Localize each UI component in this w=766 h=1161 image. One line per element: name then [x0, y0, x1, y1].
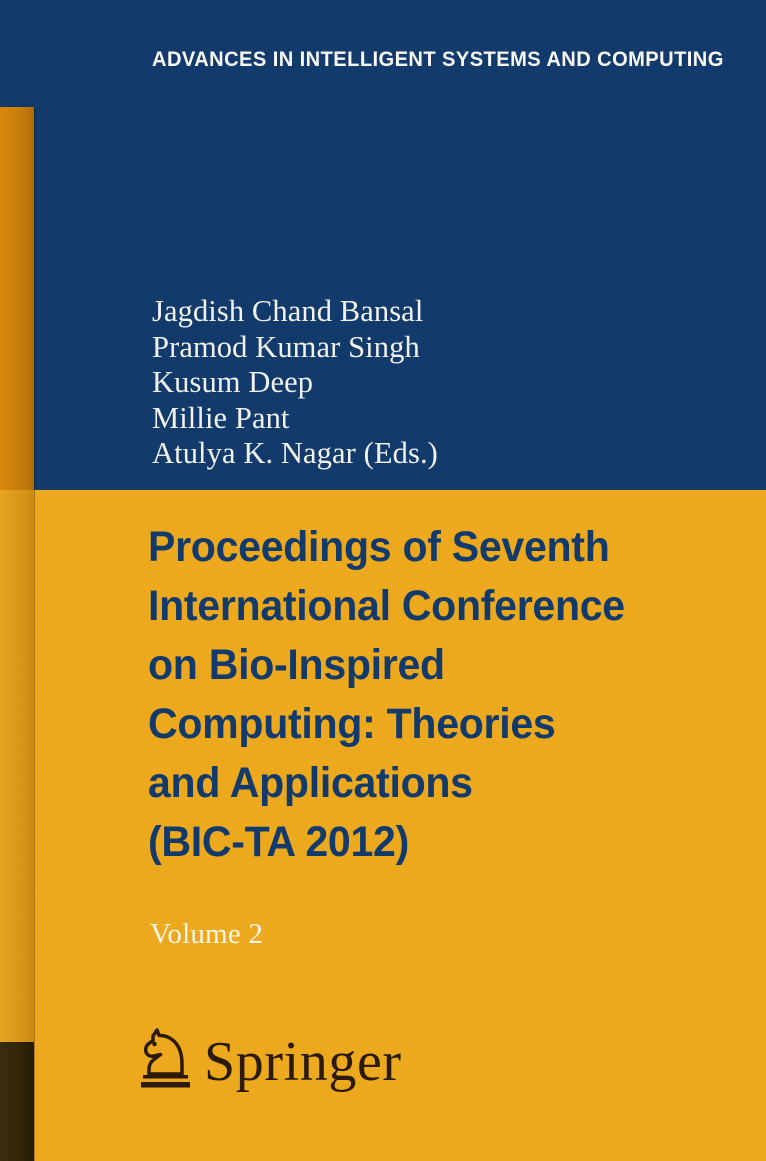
- book-title: Proceedings of Seventh International Con…: [148, 518, 748, 872]
- spine-strip-dark: [0, 1042, 34, 1161]
- editor-name: Pramod Kumar Singh: [152, 330, 712, 366]
- book-cover: ADVANCES IN INTELLIGENT SYSTEMS AND COMP…: [0, 0, 766, 1161]
- series-name: ADVANCES IN INTELLIGENT SYSTEMS AND COMP…: [152, 47, 724, 72]
- title-line: (BIC-TA 2012): [148, 813, 721, 872]
- springer-knight-icon: [134, 1026, 190, 1092]
- editor-list: Jagdish Chand Bansal Pramod Kumar Singh …: [152, 294, 712, 472]
- editor-name: Millie Pant: [152, 401, 712, 437]
- knight-baseline-icon: [141, 1082, 190, 1088]
- editor-name: Kusum Deep: [152, 365, 712, 401]
- spine-strip-yellow: [0, 490, 34, 1042]
- spine-strip-orange: [0, 107, 34, 490]
- knight-plinth-icon: [143, 1075, 188, 1079]
- publisher-logo: Springer: [134, 1026, 402, 1092]
- series-banner: ADVANCES IN INTELLIGENT SYSTEMS AND COMP…: [152, 47, 766, 72]
- title-line: on Bio-Inspired: [148, 636, 721, 695]
- volume-label: Volume 2: [150, 918, 263, 951]
- title-line: Proceedings of Seventh: [148, 518, 721, 577]
- title-line: Computing: Theories: [148, 695, 721, 754]
- spine-edge-line: [34, 107, 35, 1161]
- editor-name: Jagdish Chand Bansal: [152, 294, 712, 330]
- title-line: and Applications: [148, 754, 721, 813]
- knight-eye-icon: [152, 1042, 157, 1047]
- editor-name: Atulya K. Nagar (Eds.): [152, 436, 712, 472]
- title-line: International Conference: [148, 577, 721, 636]
- publisher-name: Springer: [204, 1034, 402, 1090]
